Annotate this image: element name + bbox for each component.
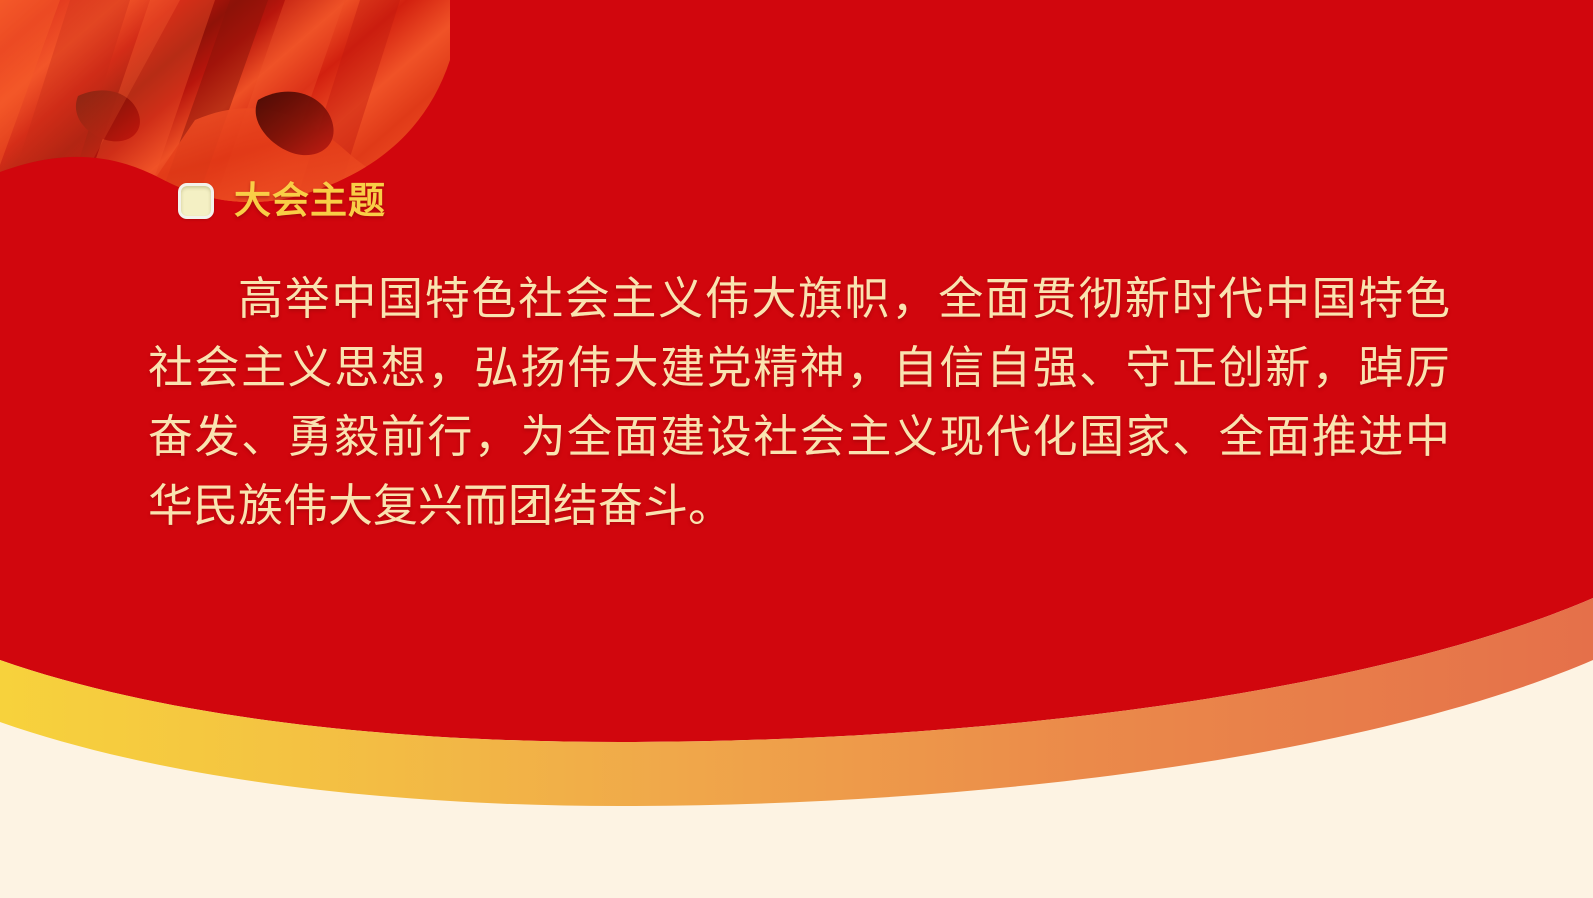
- theme-paragraph-block: 高举中国特色社会主义伟大旗帜，全面贯彻新时代中国特色社会主义思想，弘扬伟大建党精…: [148, 264, 1450, 540]
- rounded-square-bullet-icon: [178, 183, 214, 219]
- section-heading-label: 大会主题: [234, 182, 386, 219]
- slide-content: 大会主题 高举中国特色社会主义伟大旗帜，全面贯彻新时代中国特色社会主义思想，弘扬…: [0, 0, 1593, 898]
- slide-canvas: 大会主题 高举中国特色社会主义伟大旗帜，全面贯彻新时代中国特色社会主义思想，弘扬…: [0, 0, 1593, 898]
- theme-paragraph: 高举中国特色社会主义伟大旗帜，全面贯彻新时代中国特色社会主义思想，弘扬伟大建党精…: [148, 264, 1450, 540]
- section-heading: 大会主题: [178, 182, 386, 219]
